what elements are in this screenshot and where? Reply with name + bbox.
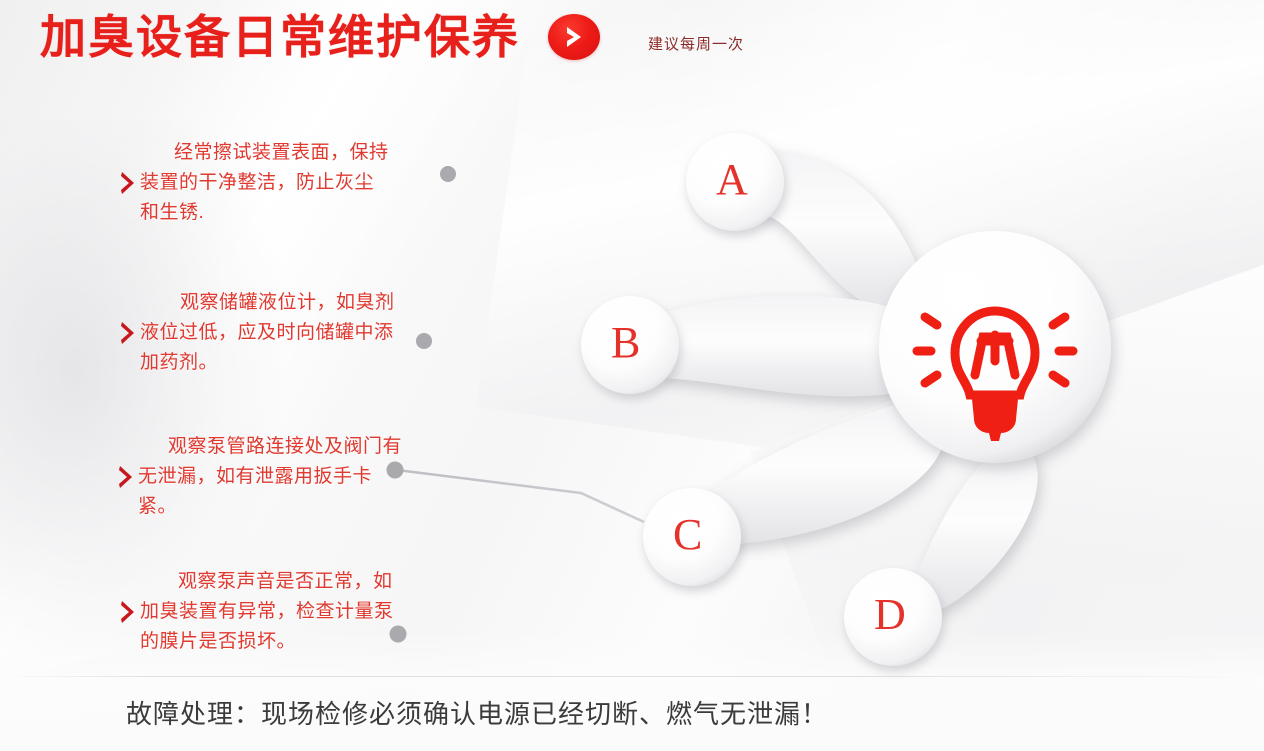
note-item-b: 观察储罐液位计，如臭剂液位过低，应及时向储罐中添加药剂。 xyxy=(120,288,398,378)
chevron-right-icon xyxy=(118,464,134,490)
note-text-a: 经常擦试装置表面，保持装置的干净整洁，防止灰尘和生锈. xyxy=(140,138,390,228)
note-text-d: 观察泵声音是否正常，如加臭装置有异常，检查计量泵的膜片是否损坏。 xyxy=(140,567,402,657)
node-circles xyxy=(581,133,942,666)
node-gloss-c xyxy=(651,495,719,539)
node-gloss-b xyxy=(589,303,657,347)
note-item-c: 观察泵管路连接处及阀门有无泄漏，如有泄露用扳手卡紧。 xyxy=(118,432,406,522)
chevron-right-icon xyxy=(120,599,136,625)
note-text-c: 观察泵管路连接处及阀门有无泄漏，如有泄露用扳手卡紧。 xyxy=(138,432,406,522)
note-item-d: 观察泵声音是否正常，如加臭装置有异常，检查计量泵的膜片是否损坏。 xyxy=(120,567,402,657)
chevron-right-icon xyxy=(120,320,136,346)
footer-warning: 故障处理：现场检修必须确认电源已经切断、燃气无泄漏！ xyxy=(126,694,828,731)
infographic-page: 加臭设备日常维护保养 建议每周一次 xyxy=(0,0,1264,751)
note-item-a: 经常擦试装置表面，保持装置的干净整洁，防止灰尘和生锈. xyxy=(120,138,390,228)
note-text-b: 观察储罐液位计，如臭剂液位过低，应及时向储罐中添加药剂。 xyxy=(140,288,398,378)
node-gloss-a xyxy=(694,140,762,184)
node-gloss-d xyxy=(852,575,920,619)
chevron-right-icon xyxy=(120,170,136,196)
connector-d-center xyxy=(915,445,1038,612)
